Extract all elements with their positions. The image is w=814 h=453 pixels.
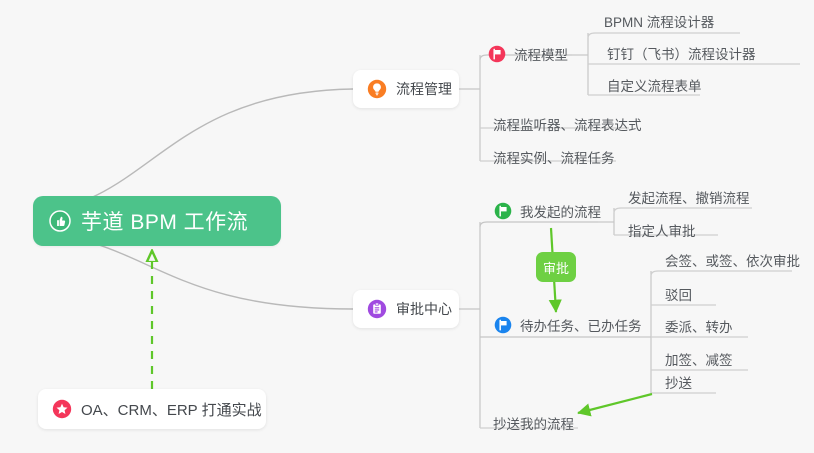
root-label: 芋道 BPM 工作流: [81, 206, 248, 236]
cc-link-arrow: [578, 394, 652, 413]
leaf-label-delegate-transfer: 委派、转办: [665, 316, 733, 336]
leaf-label-dingtalk-feishu-designer: 钉钉（飞书）流程设计器: [607, 43, 756, 63]
leaf-dingtalk-feishu-designer[interactable]: 钉钉（飞书）流程设计器: [601, 41, 762, 67]
branch-node-flow-management[interactable]: 流程管理: [353, 70, 459, 108]
branch-node-approval-center[interactable]: 审批中心: [353, 290, 459, 328]
clipboard-icon: [367, 299, 387, 319]
annotation-approve-label: 审批: [543, 258, 569, 277]
branch-label-flow-management: 流程管理: [396, 79, 452, 99]
leaf-custom-flow-form[interactable]: 自定义流程表单: [601, 73, 708, 99]
leaf-label-start-cancel-flow: 发起流程、撤销流程: [628, 187, 750, 207]
leaf-flow-listener-expression[interactable]: 流程监听器、流程表达式: [487, 112, 648, 138]
leaf-label-flow-listener-expression: 流程监听器、流程表达式: [493, 114, 642, 134]
leaf-label-flow-instance-task: 流程实例、流程任务: [493, 147, 615, 167]
floating-label-oa-crm-erp: OA、CRM、ERP 打通实战: [81, 399, 262, 420]
leaf-start-cancel-flow[interactable]: 发起流程、撤销流程: [622, 185, 756, 211]
flag-icon: [488, 45, 506, 63]
leaf-reject[interactable]: 驳回: [659, 282, 698, 308]
leaf-flow-instance-task[interactable]: 流程实例、流程任务: [487, 145, 621, 171]
leaf-cc[interactable]: 抄送: [659, 370, 698, 396]
leaf-label-countersign-or-sequential: 会签、或签、依次审批: [665, 250, 800, 270]
branch-label-approval-center: 审批中心: [396, 299, 452, 319]
leaf-flow-model[interactable]: 流程模型: [486, 42, 574, 68]
leaf-label-bpmn-designer: BPMN 流程设计器: [604, 11, 714, 31]
leaf-todo-done-tasks[interactable]: 待办任务、已办任务: [492, 313, 648, 339]
leaf-label-custom-flow-form: 自定义流程表单: [607, 75, 702, 95]
leaf-delegate-transfer[interactable]: 委派、转办: [659, 314, 739, 340]
leaf-label-todo-done-tasks: 待办任务、已办任务: [520, 315, 642, 335]
flag-icon: [494, 316, 512, 334]
leaf-label-cc: 抄送: [665, 372, 692, 392]
mindmap-canvas: 芋道 BPM 工作流 流程管理 审批中心: [0, 0, 814, 453]
leaf-label-cc-to-me-flows: 抄送我的流程: [493, 413, 574, 433]
leaf-label-assignee-approval: 指定人审批: [628, 220, 696, 240]
star-icon: [52, 399, 72, 419]
thumbs-up-icon: [49, 210, 71, 232]
flag-icon: [494, 202, 512, 220]
leaf-label-add-remove-sign: 加签、减签: [665, 349, 733, 369]
leaf-cc-to-me-flows[interactable]: 抄送我的流程: [487, 411, 580, 437]
leaf-bpmn-designer[interactable]: BPMN 流程设计器: [598, 9, 720, 35]
root-node[interactable]: 芋道 BPM 工作流: [33, 196, 281, 246]
leaf-label-reject: 驳回: [665, 284, 692, 304]
floating-node-oa-crm-erp[interactable]: OA、CRM、ERP 打通实战: [38, 389, 266, 429]
leaf-my-started-flows[interactable]: 我发起的流程: [492, 199, 607, 225]
leaf-countersign-or-sequential[interactable]: 会签、或签、依次审批: [659, 248, 806, 274]
lightbulb-icon: [367, 79, 387, 99]
leaf-label-flow-model: 流程模型: [514, 44, 568, 64]
leaf-assignee-approval[interactable]: 指定人审批: [622, 218, 702, 244]
annotation-approve-chip[interactable]: 审批: [536, 252, 576, 282]
leaf-label-my-started-flows: 我发起的流程: [520, 201, 601, 221]
edge-root-to-flow-management: [33, 89, 353, 212]
